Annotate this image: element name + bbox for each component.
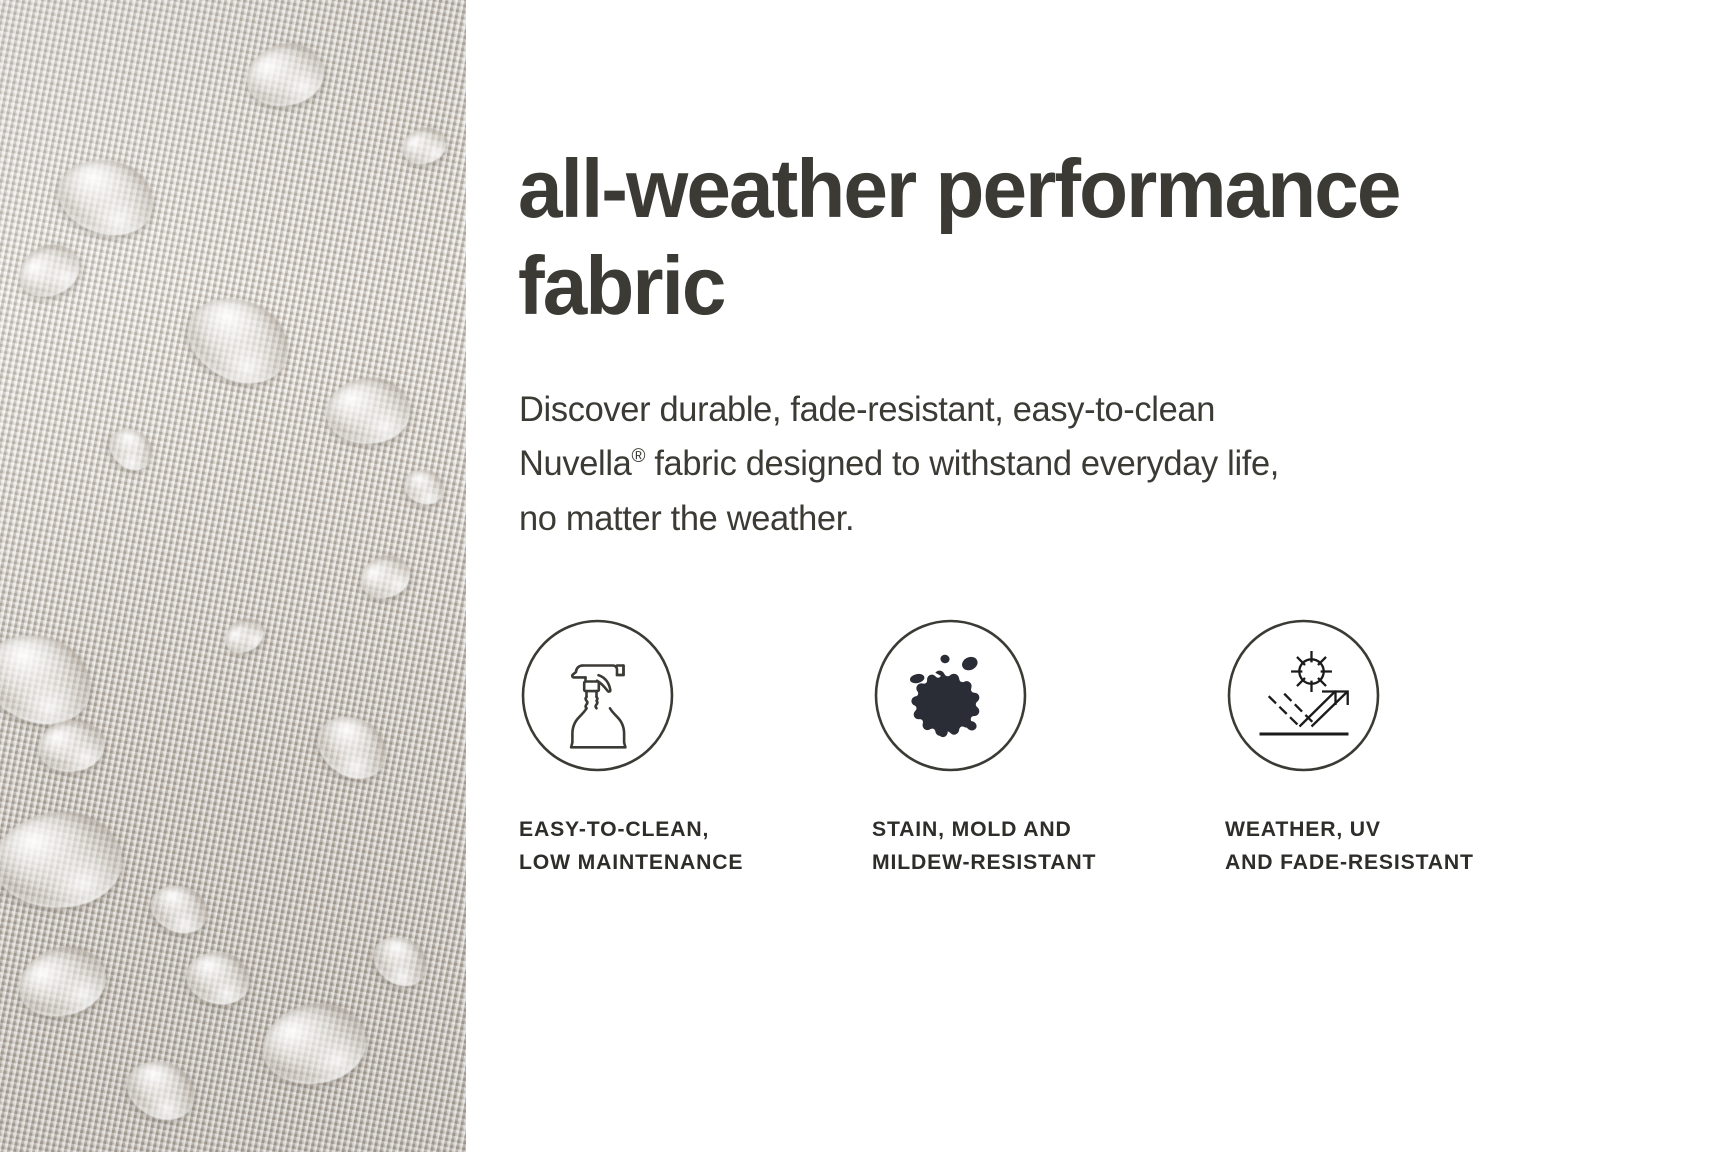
- water-droplet: [238, 33, 331, 116]
- brand-name-nuvella: Nuvella: [519, 443, 631, 483]
- water-droplet: [144, 878, 213, 940]
- water-droplet: [218, 612, 269, 661]
- sun-uv-reflect-icon: [1226, 618, 1381, 773]
- spray-bottle-icon: [520, 618, 675, 773]
- feature-list: EASY-TO-CLEAN, LOW MAINTENANCE: [519, 618, 1549, 878]
- water-droplet: [400, 466, 447, 509]
- water-droplet: [397, 121, 451, 171]
- subcopy-line-3: no matter the weather.: [519, 498, 854, 538]
- registered-trademark-icon: ®: [631, 445, 645, 467]
- water-droplet: [10, 234, 89, 308]
- water-droplet: [364, 927, 435, 995]
- feature-item-stain-resistant: STAIN, MOLD AND MILDEW-RESISTANT: [872, 618, 1225, 878]
- feature-item-uv-resistant: WEATHER, UV AND FADE-RESISTANT: [1225, 618, 1578, 878]
- feature-label-easy-to-clean: EASY-TO-CLEAN, LOW MAINTENANCE: [519, 813, 743, 878]
- water-droplet: [101, 420, 160, 478]
- feature-label-stain-resistant: STAIN, MOLD AND MILDEW-RESISTANT: [872, 813, 1096, 878]
- subcopy-line-2-rest: fabric designed to withstand everyday li…: [645, 443, 1279, 483]
- water-droplet: [0, 806, 127, 915]
- water-droplets-group: [0, 0, 466, 1152]
- fabric-photo-panel: [0, 0, 466, 1152]
- water-droplet: [254, 993, 374, 1096]
- water-droplet: [51, 151, 160, 243]
- feature-label-uv-resistant: WEATHER, UV AND FADE-RESISTANT: [1225, 813, 1474, 878]
- water-droplet: [175, 283, 301, 396]
- water-droplet: [307, 704, 398, 789]
- water-droplet: [353, 547, 416, 606]
- content-panel: all-weather performance fabric Discover …: [466, 0, 1726, 1152]
- water-droplet: [322, 372, 414, 449]
- water-droplet: [183, 948, 254, 1008]
- water-droplet: [119, 1052, 204, 1129]
- water-droplet: [9, 935, 115, 1029]
- page-title: all-weather performance fabric: [518, 140, 1493, 334]
- all-weather-fabric-banner: all-weather performance fabric Discover …: [0, 0, 1726, 1152]
- subheadline-copy: Discover durable, fade-resistant, easy-t…: [519, 382, 1450, 545]
- water-droplet: [0, 623, 102, 736]
- subcopy-line-1: Discover durable, fade-resistant, easy-t…: [519, 389, 1215, 429]
- feature-item-easy-to-clean: EASY-TO-CLEAN, LOW MAINTENANCE: [519, 618, 872, 878]
- stain-splat-icon: [873, 618, 1028, 773]
